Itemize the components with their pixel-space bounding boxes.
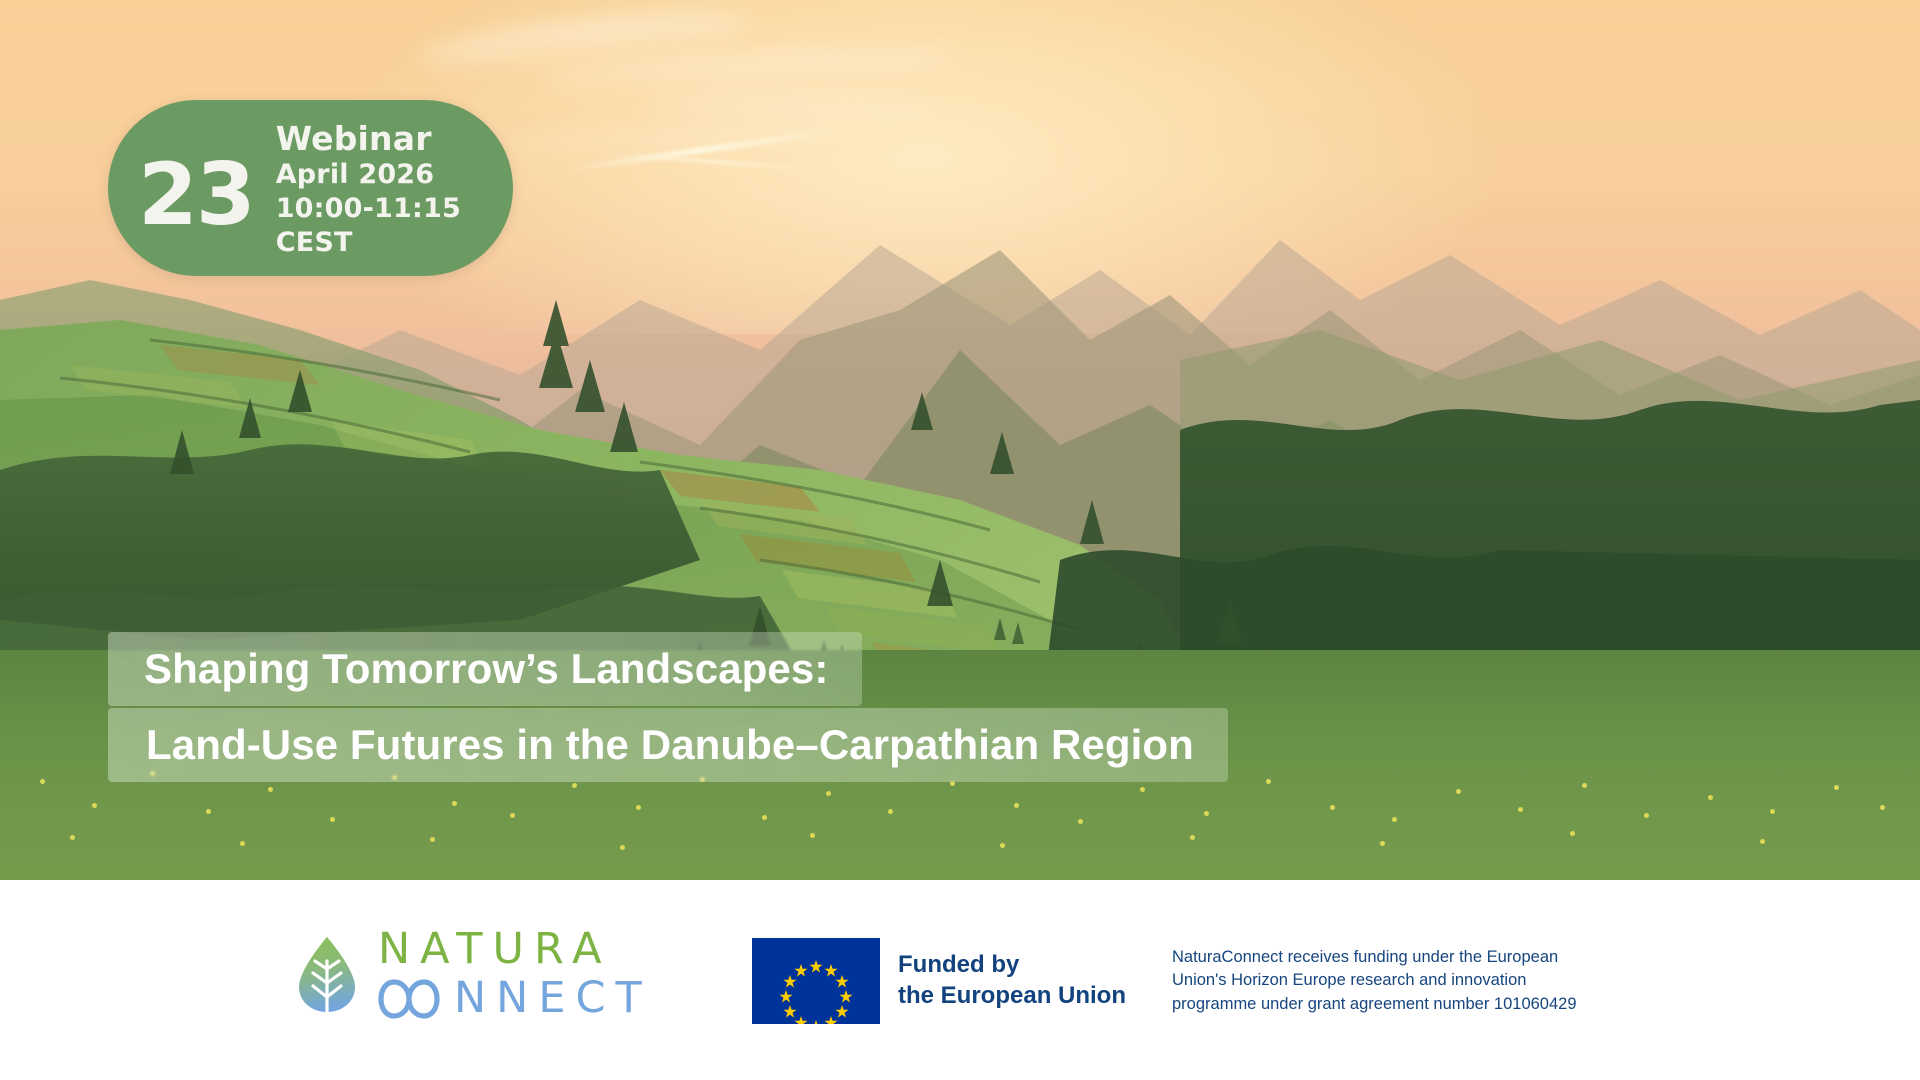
- page-title-line-1: Shaping Tomorrow’s Landscapes:: [108, 632, 862, 706]
- badge-event-type: Webinar: [276, 120, 513, 159]
- funding-disclaimer-line-3: programme under grant agreement number 1…: [1172, 993, 1577, 1016]
- eu-flag-icon: [752, 938, 880, 1024]
- logo-word-connect: NNECT: [454, 977, 652, 1020]
- eu-caption-line-1: Funded by: [898, 950, 1126, 981]
- badge-month-year: April 2026: [276, 158, 513, 192]
- logo-word-natura: NATURA: [378, 928, 652, 971]
- hero-landscape-photo: 23 Webinar April 2026 10:00-11:15 CEST S…: [0, 0, 1920, 880]
- poster-title: Shaping Tomorrow’s Landscapes: Land-Use …: [0, 632, 1920, 782]
- badge-text-lines: Webinar April 2026 10:00-11:15 CEST: [276, 116, 513, 261]
- eu-caption-line-2: the European Union: [898, 981, 1126, 1012]
- footer-bar: NATURA NNECT: [0, 880, 1920, 1080]
- funding-disclaimer-line-2: Union's Horizon Europe research and inno…: [1172, 969, 1577, 992]
- infinity-icon: [378, 978, 452, 1020]
- badge-day-number: 23: [138, 141, 254, 234]
- eu-funding-caption: Funded by the European Union: [898, 950, 1126, 1011]
- leaf-icon: [296, 935, 358, 1013]
- eu-funding-emblem: Funded by the European Union: [752, 938, 1126, 1024]
- funding-disclaimer: NaturaConnect receives funding under the…: [1172, 946, 1577, 1016]
- webinar-date-badge: 23 Webinar April 2026 10:00-11:15 CEST: [108, 100, 513, 276]
- badge-time-range: 10:00-11:15 CEST: [276, 192, 513, 260]
- page-title-line-2: Land-Use Futures in the Danube–Carpathia…: [108, 708, 1228, 782]
- naturaconnect-logo[interactable]: NATURA NNECT: [296, 928, 652, 1020]
- funding-disclaimer-line-1: NaturaConnect receives funding under the…: [1172, 946, 1577, 969]
- webinar-poster: 23 Webinar April 2026 10:00-11:15 CEST S…: [0, 0, 1920, 1080]
- naturaconnect-wordmark: NATURA NNECT: [378, 928, 652, 1020]
